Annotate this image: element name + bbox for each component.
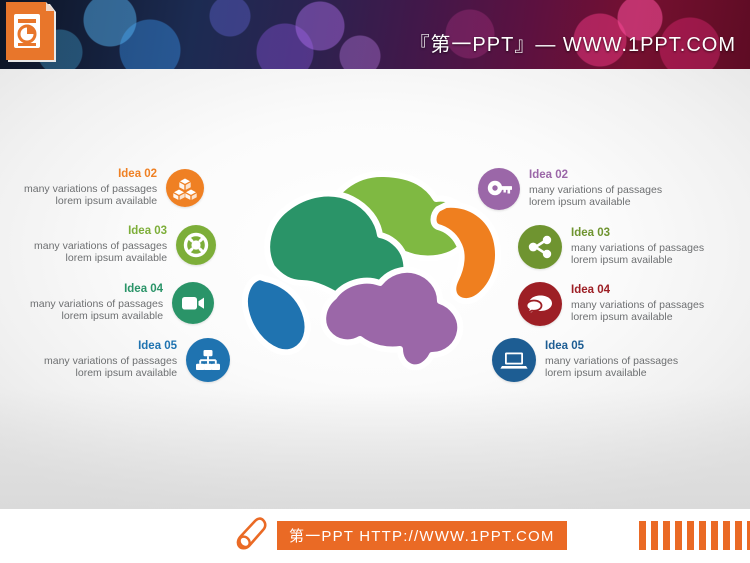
item-title: Idea 05 [545, 340, 678, 354]
brain-lobe-temporal [323, 270, 460, 368]
header-title: 『第一PPT』— WWW.1PPT.COM [409, 28, 736, 57]
item-icon-circle[interactable] [518, 225, 562, 269]
list-item[interactable]: Idea 04 many variations of passages lore… [30, 282, 214, 324]
item-icon-circle[interactable] [176, 225, 216, 265]
item-text: Idea 05 many variations of passages lore… [44, 340, 177, 379]
item-line-1: many variations of passages [24, 183, 157, 195]
item-line-1: many variations of passages [44, 355, 177, 367]
item-icon-circle[interactable] [478, 168, 520, 210]
brain-lobe-cerebellum [245, 277, 308, 352]
item-title: Idea 02 [24, 168, 157, 182]
item-text: Idea 05 many variations of passages lore… [545, 340, 678, 379]
list-item[interactable]: Idea 05 many variations of passages lore… [492, 338, 678, 382]
footer-text: 第一PPT HTTP://WWW.1PPT.COM [289, 525, 555, 546]
key-icon [478, 168, 520, 210]
item-title: Idea 04 [30, 283, 163, 297]
item-title: Idea 02 [529, 169, 662, 183]
lifebuoy-icon [176, 225, 216, 265]
item-line-1: many variations of passages [545, 355, 678, 367]
footer-stripes [639, 521, 750, 550]
list-item[interactable]: Idea 03 many variations of passages lore… [34, 225, 216, 265]
item-title: Idea 05 [44, 340, 177, 354]
item-icon-circle[interactable] [518, 282, 562, 326]
item-text: Idea 03 many variations of passages lore… [34, 225, 167, 264]
item-line-1: many variations of passages [571, 299, 704, 311]
item-line-1: many variations of passages [30, 298, 163, 310]
item-title: Idea 03 [34, 225, 167, 239]
footer-bar: 第一PPT HTTP://WWW.1PPT.COM [0, 509, 750, 563]
list-item[interactable]: Idea 03 many variations of passages lore… [518, 225, 704, 269]
item-line-1: many variations of passages [34, 240, 167, 252]
footer-text-bar: 第一PPT HTTP://WWW.1PPT.COM [277, 521, 567, 550]
item-title: Idea 04 [571, 284, 704, 298]
item-line-2: lorem ipsum available [24, 195, 157, 207]
slide-canvas: 『第一PPT』— WWW.1PPT.COM Idea 02 many varia… [0, 0, 750, 563]
item-line-2: lorem ipsum available [44, 367, 177, 379]
item-icon-circle[interactable] [166, 169, 204, 207]
list-item[interactable]: Idea 02 many variations of passages lore… [478, 168, 662, 210]
item-icon-circle[interactable] [186, 338, 230, 382]
powerpoint-logo-icon [6, 2, 58, 64]
pen-icon [236, 517, 272, 555]
list-item[interactable]: Idea 04 many variations of passages lore… [518, 282, 704, 326]
item-line-2: lorem ipsum available [545, 367, 678, 379]
item-icon-circle[interactable] [172, 282, 214, 324]
share-icon [518, 225, 562, 269]
video-camera-icon [172, 282, 214, 324]
item-icon-circle[interactable] [492, 338, 536, 382]
laptop-icon [492, 338, 536, 382]
item-line-2: lorem ipsum available [571, 254, 704, 266]
item-text: Idea 04 many variations of passages lore… [30, 283, 163, 322]
item-text: Idea 02 many variations of passages lore… [24, 168, 157, 207]
header-banner: 『第一PPT』— WWW.1PPT.COM [0, 0, 750, 69]
item-text: Idea 04 many variations of passages lore… [571, 284, 704, 323]
list-item[interactable]: Idea 05 many variations of passages lore… [44, 338, 230, 382]
item-text: Idea 03 many variations of passages lore… [571, 227, 704, 266]
boxes-icon [166, 169, 204, 207]
item-line-2: lorem ipsum available [571, 311, 704, 323]
item-title: Idea 03 [571, 227, 704, 241]
item-line-2: lorem ipsum available [529, 196, 662, 208]
item-text: Idea 02 many variations of passages lore… [529, 169, 662, 208]
speech-bubbles-icon [518, 282, 562, 326]
item-line-1: many variations of passages [571, 242, 704, 254]
item-line-2: lorem ipsum available [30, 310, 163, 322]
list-item[interactable]: Idea 02 many variations of passages lore… [24, 168, 204, 207]
org-chart-icon [186, 338, 230, 382]
item-line-1: many variations of passages [529, 184, 662, 196]
item-line-2: lorem ipsum available [34, 252, 167, 264]
